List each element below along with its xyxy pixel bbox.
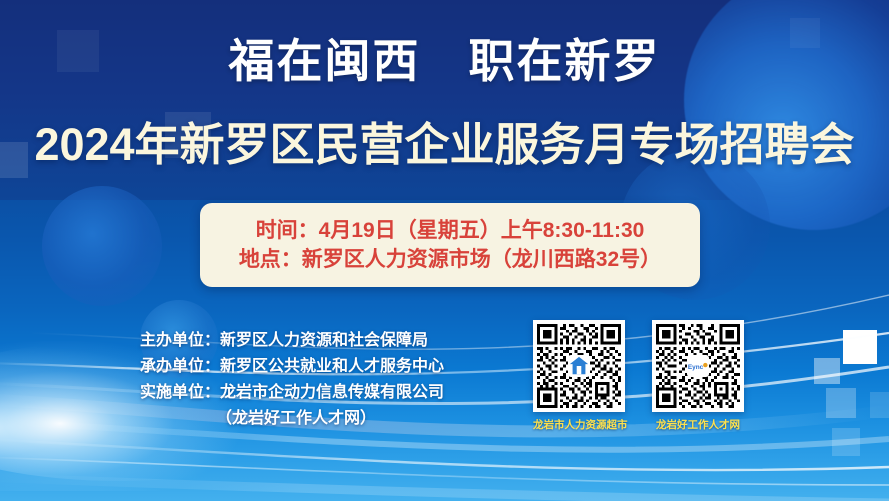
qr-code-item-1[interactable]: 龙岩市人力资源超市 — [533, 320, 625, 432]
qr-code-group: 龙岩市人力资源超市 — [533, 320, 744, 432]
qr-code-image-2[interactable]: Eync — [652, 320, 744, 412]
qr-caption-2: 龙岩好工作人才网 — [652, 417, 744, 432]
event-time-line: 时间：4月19日（星期五）上午8:30-11:30 — [256, 218, 645, 244]
qr-caption-1: 龙岩市人力资源超市 — [533, 417, 625, 432]
organizer-co-host: 承办单位：新罗区公共就业和人才服务中心 — [140, 354, 444, 380]
brand-logo-icon: Eync — [687, 355, 709, 377]
page-title-main: 福在闽西 职在新罗 — [0, 38, 889, 84]
organizer-block: 主办单位：新罗区人力资源和社会保障局 承办单位：新罗区公共就业和人才服务中心 实… — [140, 328, 444, 432]
svg-text:Eync: Eync — [688, 364, 704, 371]
house-icon — [568, 355, 590, 377]
organizer-implementer: 实施单位：龙岩市企动力信息传媒有限公司 — [140, 380, 444, 406]
recruitment-poster: 福在闽西 职在新罗 2024年新罗区民营企业服务月专场招聘会 时间：4月19日（… — [0, 0, 889, 501]
organizer-host: 主办单位：新罗区人力资源和社会保障局 — [140, 328, 444, 354]
event-place-line: 地点：新罗区人力资源市场（龙川西路32号） — [239, 247, 661, 273]
qr-code-image-1[interactable] — [533, 320, 625, 412]
qr-code-item-2[interactable]: Eync 龙岩好工作人才网 — [652, 320, 744, 432]
page-title-sub: 2024年新罗区民营企业服务月专场招聘会 — [0, 122, 889, 167]
event-info-box: 时间：4月19日（星期五）上午8:30-11:30 地点：新罗区人力资源市场（龙… — [200, 203, 700, 287]
organizer-implementer-site: （龙岩好工作人才网） — [140, 406, 444, 432]
